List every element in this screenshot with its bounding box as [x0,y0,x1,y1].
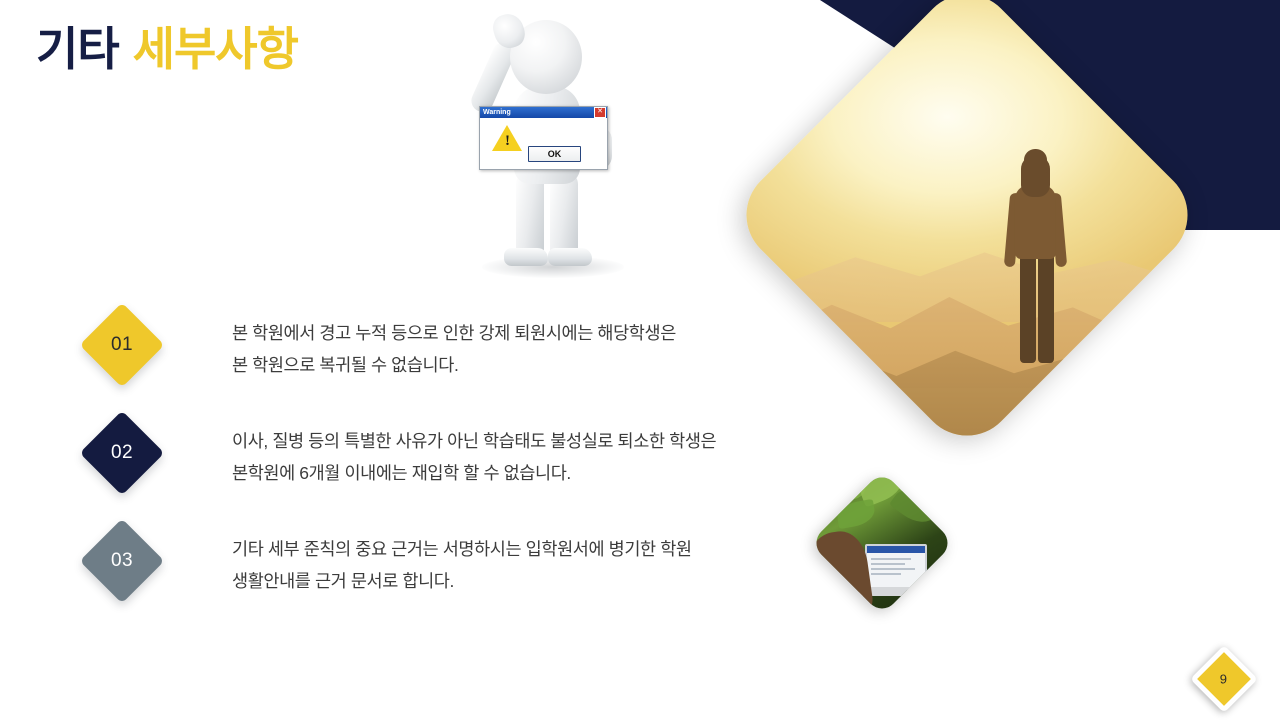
warning-dialog: Warning ✕ ! OK [479,106,608,170]
list-item: 03 기타 세부 준칙의 중요 근거는 서명하시는 입학원서에 병기한 학원 생… [92,531,812,639]
page-number-badge: 9 [1190,645,1258,713]
ok-button[interactable]: OK [528,146,581,162]
warning-exclamation-glyph: ! [505,134,510,149]
warning-dialog-body: ! OK [480,118,607,167]
list-item: 02 이사, 질병 등의 특별한 사유가 아닌 학습태도 불성실로 퇴소한 학생… [92,423,812,531]
close-icon[interactable]: ✕ [594,107,606,118]
bullet-text-line: 기타 세부 준칙의 중요 근거는 서명하시는 입학원서에 병기한 학원 [232,533,812,565]
bullet-number-diamond-02: 02 [80,411,165,496]
bullet-text-02: 이사, 질병 등의 특별한 사유가 아닌 학습태도 불성실로 퇴소한 학생은 본… [232,425,812,489]
page-number-label: 9 [1220,671,1227,686]
slide-canvas: 기타세부사항 [0,0,1280,720]
person-arm [810,528,875,615]
figure-foot-left [504,248,548,266]
figure-leg-right [550,172,578,256]
laptop-screen-titlebar [867,546,925,553]
bullet-text-01: 본 학원에서 경고 누적 등으로 인한 강제 퇴원시에는 해당학생은 본 학원으… [232,317,812,381]
page-title-accent: 세부사항 [133,26,298,72]
silhouette-leg-right [1038,253,1054,363]
bullet-number-diamond-01: 01 [80,303,165,388]
bullet-list: 01 본 학원에서 경고 누적 등으로 인한 강제 퇴원시에는 해당학생은 본 … [92,315,812,639]
laptop-screen [865,544,927,590]
figure-foot-right [548,248,592,266]
laptop-screen-line [871,558,911,560]
silhouette-head [1024,149,1047,179]
page-title-main: 기타 [36,26,119,72]
figure-leg-left [516,172,544,256]
silhouette-leg-left [1020,253,1036,363]
laptop-outdoor-photo-inner [810,471,954,615]
bullet-text-03: 기타 세부 준칙의 중요 근거는 서명하시는 입학원서에 병기한 학원 생활안내… [232,533,812,597]
leaf-shape [835,499,877,529]
bullet-number-label: 01 [111,334,133,356]
list-item: 01 본 학원에서 경고 누적 등으로 인한 강제 퇴원시에는 해당학생은 본 … [92,315,812,423]
laptop-screen-line [871,573,901,575]
bullet-number-label: 03 [111,550,133,572]
warning-dialog-title: Warning [483,107,511,118]
page-title: 기타세부사항 [36,26,298,72]
bullet-number-diamond-03: 03 [80,519,165,604]
bullet-number-label: 02 [111,442,133,464]
bullet-text-line: 본 학원으로 복귀될 수 없습니다. [232,349,812,381]
bullet-text-line: 본학원에 6개월 이내에는 재입학 할 수 없습니다. [232,457,812,489]
laptop-outdoor-photo [810,471,954,615]
bullet-text-line: 본 학원에서 경고 누적 등으로 인한 강제 퇴원시에는 해당학생은 [232,317,812,349]
laptop-screen-line [871,568,915,570]
laptop-screen-line [871,563,905,565]
bullet-text-line: 이사, 질병 등의 특별한 사유가 아닌 학습태도 불성실로 퇴소한 학생은 [232,425,812,457]
mountain-layer-far [727,202,1208,322]
bullet-text-line: 생활안내를 근거 문서로 합니다. [232,565,812,597]
warning-dialog-titlebar: Warning ✕ [480,107,607,118]
woman-silhouette [996,149,1074,364]
